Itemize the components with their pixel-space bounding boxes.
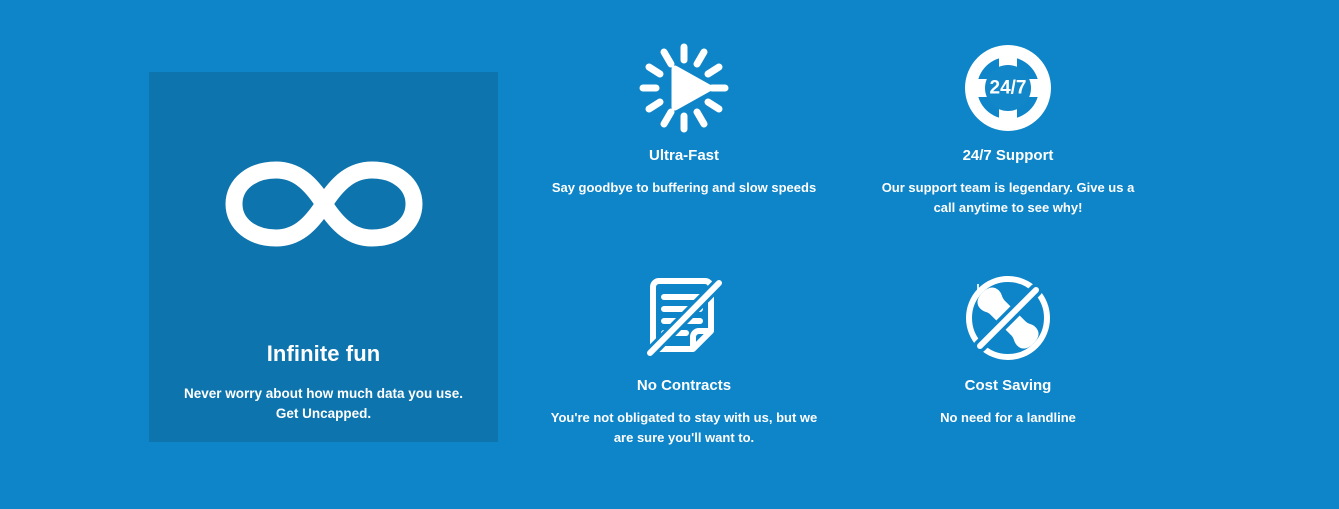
stray-cursor-artifact: [977, 284, 979, 297]
feature-description: No need for a landline: [874, 408, 1142, 428]
no-contract-document-icon: [636, 270, 732, 366]
lifebuoy-support-icon: 24/7: [960, 40, 1056, 136]
feature-no-contracts[interactable]: No Contracts You're not obligated to sta…: [522, 270, 846, 448]
feature-title: No Contracts: [637, 378, 731, 393]
feature-grid: Ultra-Fast Say goodbye to buffering and …: [522, 40, 1170, 450]
feature-title: 24/7 Support: [963, 148, 1054, 163]
feature-title: Ultra-Fast: [649, 148, 719, 163]
no-landline-phone-icon: [960, 270, 1056, 366]
infinity-icon: [218, 156, 430, 252]
feature-ultra-fast[interactable]: Ultra-Fast Say goodbye to buffering and …: [522, 40, 846, 198]
hero-title: Infinite fun: [267, 343, 381, 365]
feature-24-7-support[interactable]: 24/7 24/7 Support Our support team is le…: [846, 40, 1170, 218]
feature-description: Our support team is legendary. Give us a…: [874, 178, 1142, 218]
infinite-fun-card[interactable]: Infinite fun Never worry about how much …: [149, 72, 498, 442]
hero-description: Never worry about how much data you use.…: [174, 384, 474, 424]
feature-title: Cost Saving: [965, 378, 1052, 393]
feature-description: Say goodbye to buffering and slow speeds: [550, 178, 818, 198]
feature-cost-saving[interactable]: Cost Saving No need for a landline: [846, 270, 1170, 428]
lifebuoy-icon-label: 24/7: [990, 78, 1027, 99]
features-section: Infinite fun Never worry about how much …: [0, 0, 1339, 509]
fast-play-burst-icon: [636, 40, 732, 136]
feature-description: You're not obligated to stay with us, bu…: [550, 408, 818, 448]
